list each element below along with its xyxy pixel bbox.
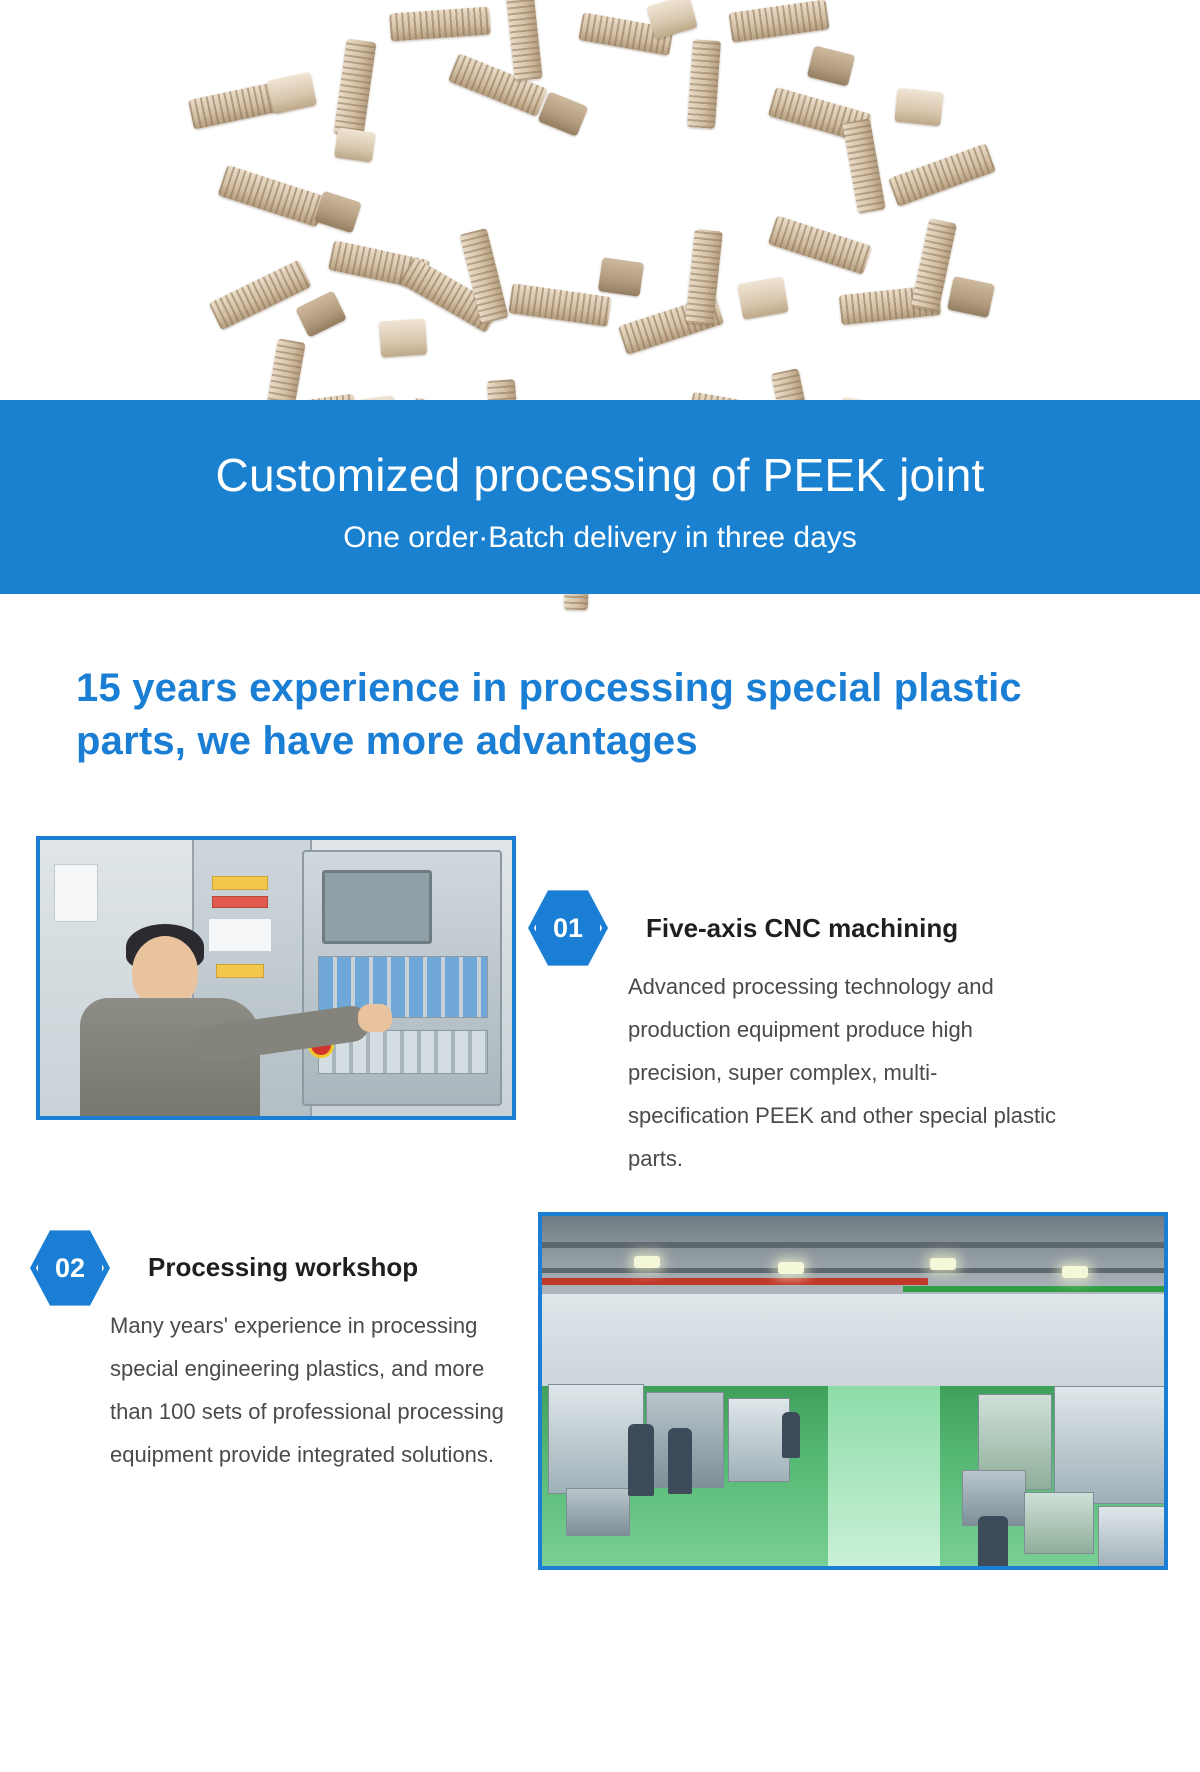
cnc-control-panel [302,850,502,1106]
red-pipe [542,1278,928,1285]
ceiling-lamp-icon [930,1258,956,1270]
instruction-label-icon [208,918,272,952]
section-headline: 15 years experience in processing specia… [76,662,1136,768]
hero-section: Customized processing of PEEK joint One … [0,0,1200,655]
banner-subtitle: One order·Batch delivery in three days [0,501,1200,555]
cnc-display-screen [322,870,432,944]
worker-figure [628,1424,654,1496]
worker-figure [978,1516,1008,1570]
document-sheet-icon [54,864,98,922]
work-cart [1098,1506,1168,1570]
ceiling-beam [542,1242,1164,1248]
ceiling-lamp-icon [1062,1266,1088,1278]
caution-label-icon [216,964,264,978]
cnc-machining-photo [36,836,516,1120]
cnc-machine [728,1398,790,1482]
feature-01-title: Five-axis CNC machining [646,913,958,944]
work-cart [1024,1492,1094,1554]
feature-02-badge: 02 [30,1228,110,1308]
hero-banner: Customized processing of PEEK joint One … [0,400,1200,594]
work-cart [566,1488,630,1536]
green-pipe [903,1286,1164,1292]
cnc-machine [1054,1386,1166,1504]
workshop-photo [538,1212,1168,1570]
operator-hand [358,1004,392,1032]
danger-label-icon [212,896,268,908]
ceiling-lamp-icon [634,1256,660,1268]
feature-02-number: 02 [36,1234,104,1302]
workshop-aisle [828,1386,940,1566]
feature-01-number: 01 [534,894,602,962]
warning-label-icon [212,876,268,890]
worker-figure [782,1412,800,1458]
feature-01-body: Advanced processing technology and produ… [628,966,1058,1180]
feature-02-body: Many years' experience in processing spe… [110,1305,510,1477]
feature-01-badge: 01 [528,888,608,968]
operator-body [80,998,260,1120]
banner-title: Customized processing of PEEK joint [0,400,1200,501]
feature-02-title: Processing workshop [148,1252,418,1283]
worker-figure [668,1428,692,1494]
ceiling-lamp-icon [778,1262,804,1274]
